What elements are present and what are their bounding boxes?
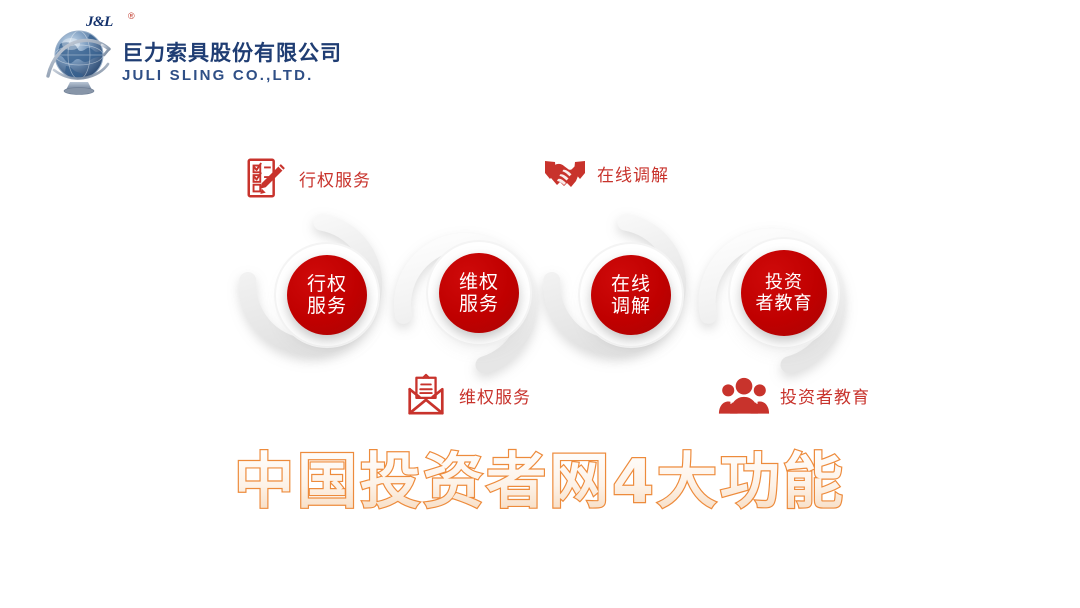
group-people-icon [718, 372, 770, 418]
feature-xingquan-fuwu[interactable]: 行权服务 [243, 155, 371, 201]
node-xingquan-fuwu[interactable]: 行权 服务 [287, 255, 367, 335]
node-label-line1: 在线 [611, 273, 651, 295]
open-envelope-letter-icon [403, 372, 449, 418]
registered-trademark-icon: ® [128, 11, 135, 21]
feature-label: 投资者教育 [780, 383, 870, 408]
company-name-en: JULI SLING CO.,LTD. [122, 68, 342, 83]
node-weiquan-fuwu[interactable]: 维权 服务 [439, 253, 519, 333]
node-label-line1: 投资 [765, 272, 803, 293]
feature-zaixian-tiaojie[interactable]: 在线调解 [541, 150, 669, 196]
node-zaixian-tiaojie[interactable]: 在线 调解 [591, 255, 671, 335]
globe-sling-icon: J&L ® [46, 18, 116, 96]
node-label-line2: 服务 [459, 293, 499, 315]
slide-title-text: 中国投资者网4大功能 [234, 447, 846, 517]
feature-weiquan-fuwu[interactable]: 维权服务 [403, 372, 531, 418]
logo-monogram: J&L [86, 14, 113, 31]
handshake-icon [541, 150, 587, 196]
node-touzizhe-jiaoyu[interactable]: 投资 者教育 [741, 250, 827, 336]
feature-label: 在线调解 [597, 161, 669, 186]
node-label-line2: 调解 [611, 295, 651, 317]
node-label-line1: 行权 [307, 273, 347, 295]
company-name-cn: 巨力索具股份有限公司 [122, 43, 342, 64]
feature-touzizhe-jiaoyu[interactable]: 投资者教育 [718, 372, 870, 418]
feature-label: 行权服务 [299, 166, 371, 191]
node-label-line2: 服务 [307, 295, 347, 317]
company-logo[interactable]: J&L ® 巨力索具股份有限公司 JULI SLING CO.,LTD. [46, 18, 342, 96]
slide-canvas: J&L ® 巨力索具股份有限公司 JULI SLING CO.,LTD. [0, 0, 1080, 608]
node-label-line1: 维权 [459, 271, 499, 293]
slide-title: 中国投资者网4大功能 [0, 440, 1080, 526]
feature-label: 维权服务 [459, 383, 531, 408]
node-label-line2: 者教育 [756, 293, 813, 314]
clipboard-checklist-pencil-icon [243, 155, 289, 201]
